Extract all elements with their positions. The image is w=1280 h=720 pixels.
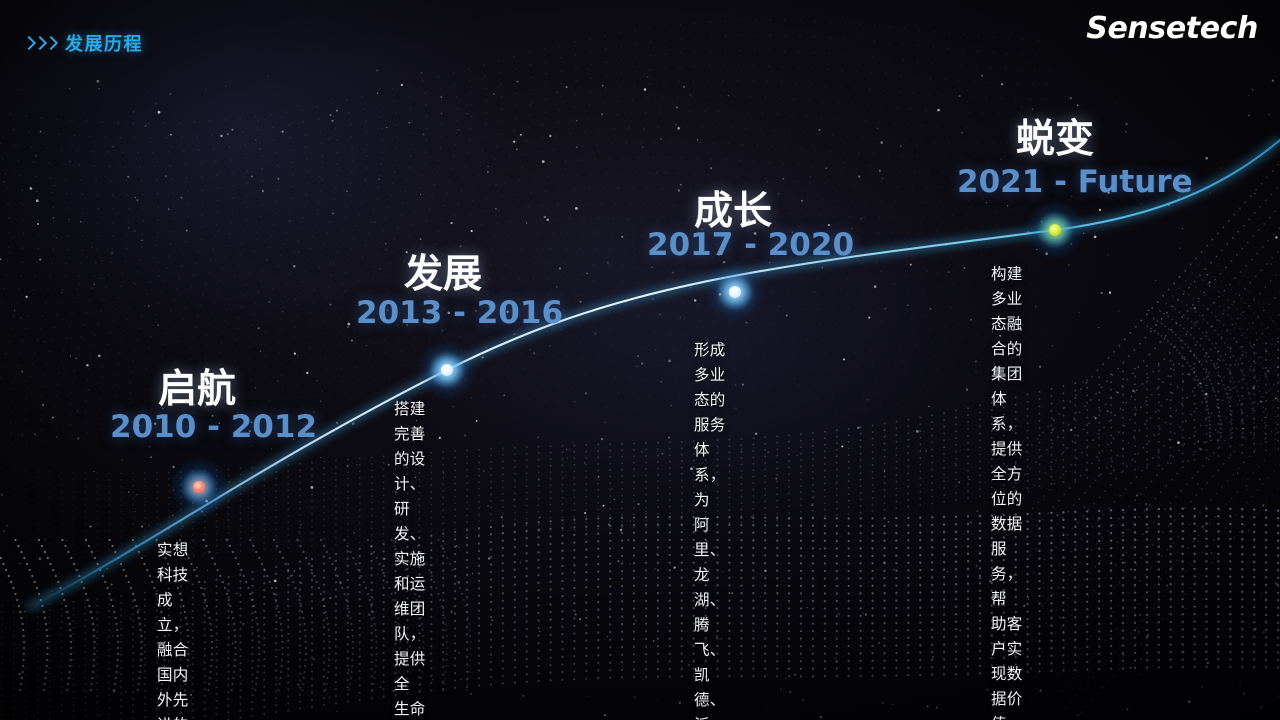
chevrons-right-icon	[24, 38, 56, 48]
node-core-icon	[729, 286, 741, 298]
node-core-icon	[193, 481, 205, 493]
milestone-years: 2021 - Future	[957, 164, 1193, 200]
milestone-years: 2010 - 2012	[110, 409, 317, 445]
slide-header: 发展历程 Sensetech	[0, 0, 1280, 66]
milestone-description: 构建多业态融合的集团体系， 提供全方位的数据服务，帮 助客户实现数据价值、深度 …	[991, 262, 1022, 720]
page-title: 发展历程	[65, 30, 143, 56]
slide-canvas: 发展历程 Sensetech 启航 2010 - 2012 实想科技成立，融合国…	[0, 0, 1280, 720]
brand-logo: Sensetech	[1086, 11, 1258, 46]
node-core-icon	[1049, 224, 1061, 236]
milestone-title: 蜕变	[1016, 108, 1094, 164]
milestone-years: 2017 - 2020	[647, 227, 854, 263]
node-core-icon	[441, 364, 453, 376]
milestone-description: 实想科技成立，融合国内 外先进的物联网技术，在 泛建筑领域提供技术支持 和行业解…	[157, 538, 188, 720]
milestone-years: 2013 - 2016	[356, 295, 563, 331]
header-title-group: 发展历程	[24, 30, 143, 56]
milestone-title: 启航	[158, 358, 236, 414]
milestone-description: 搭建完善的设计、研发、 实施和运维团队，提供全 生命周期的咨询、设计、 落地和运…	[394, 397, 425, 720]
milestone-description: 形成多业态的服务体系，为 阿里、龙湖、腾飞、凯德、 泛海、丹佛斯、苹果、中海、 …	[694, 338, 725, 720]
milestone-title: 发展	[404, 243, 482, 299]
